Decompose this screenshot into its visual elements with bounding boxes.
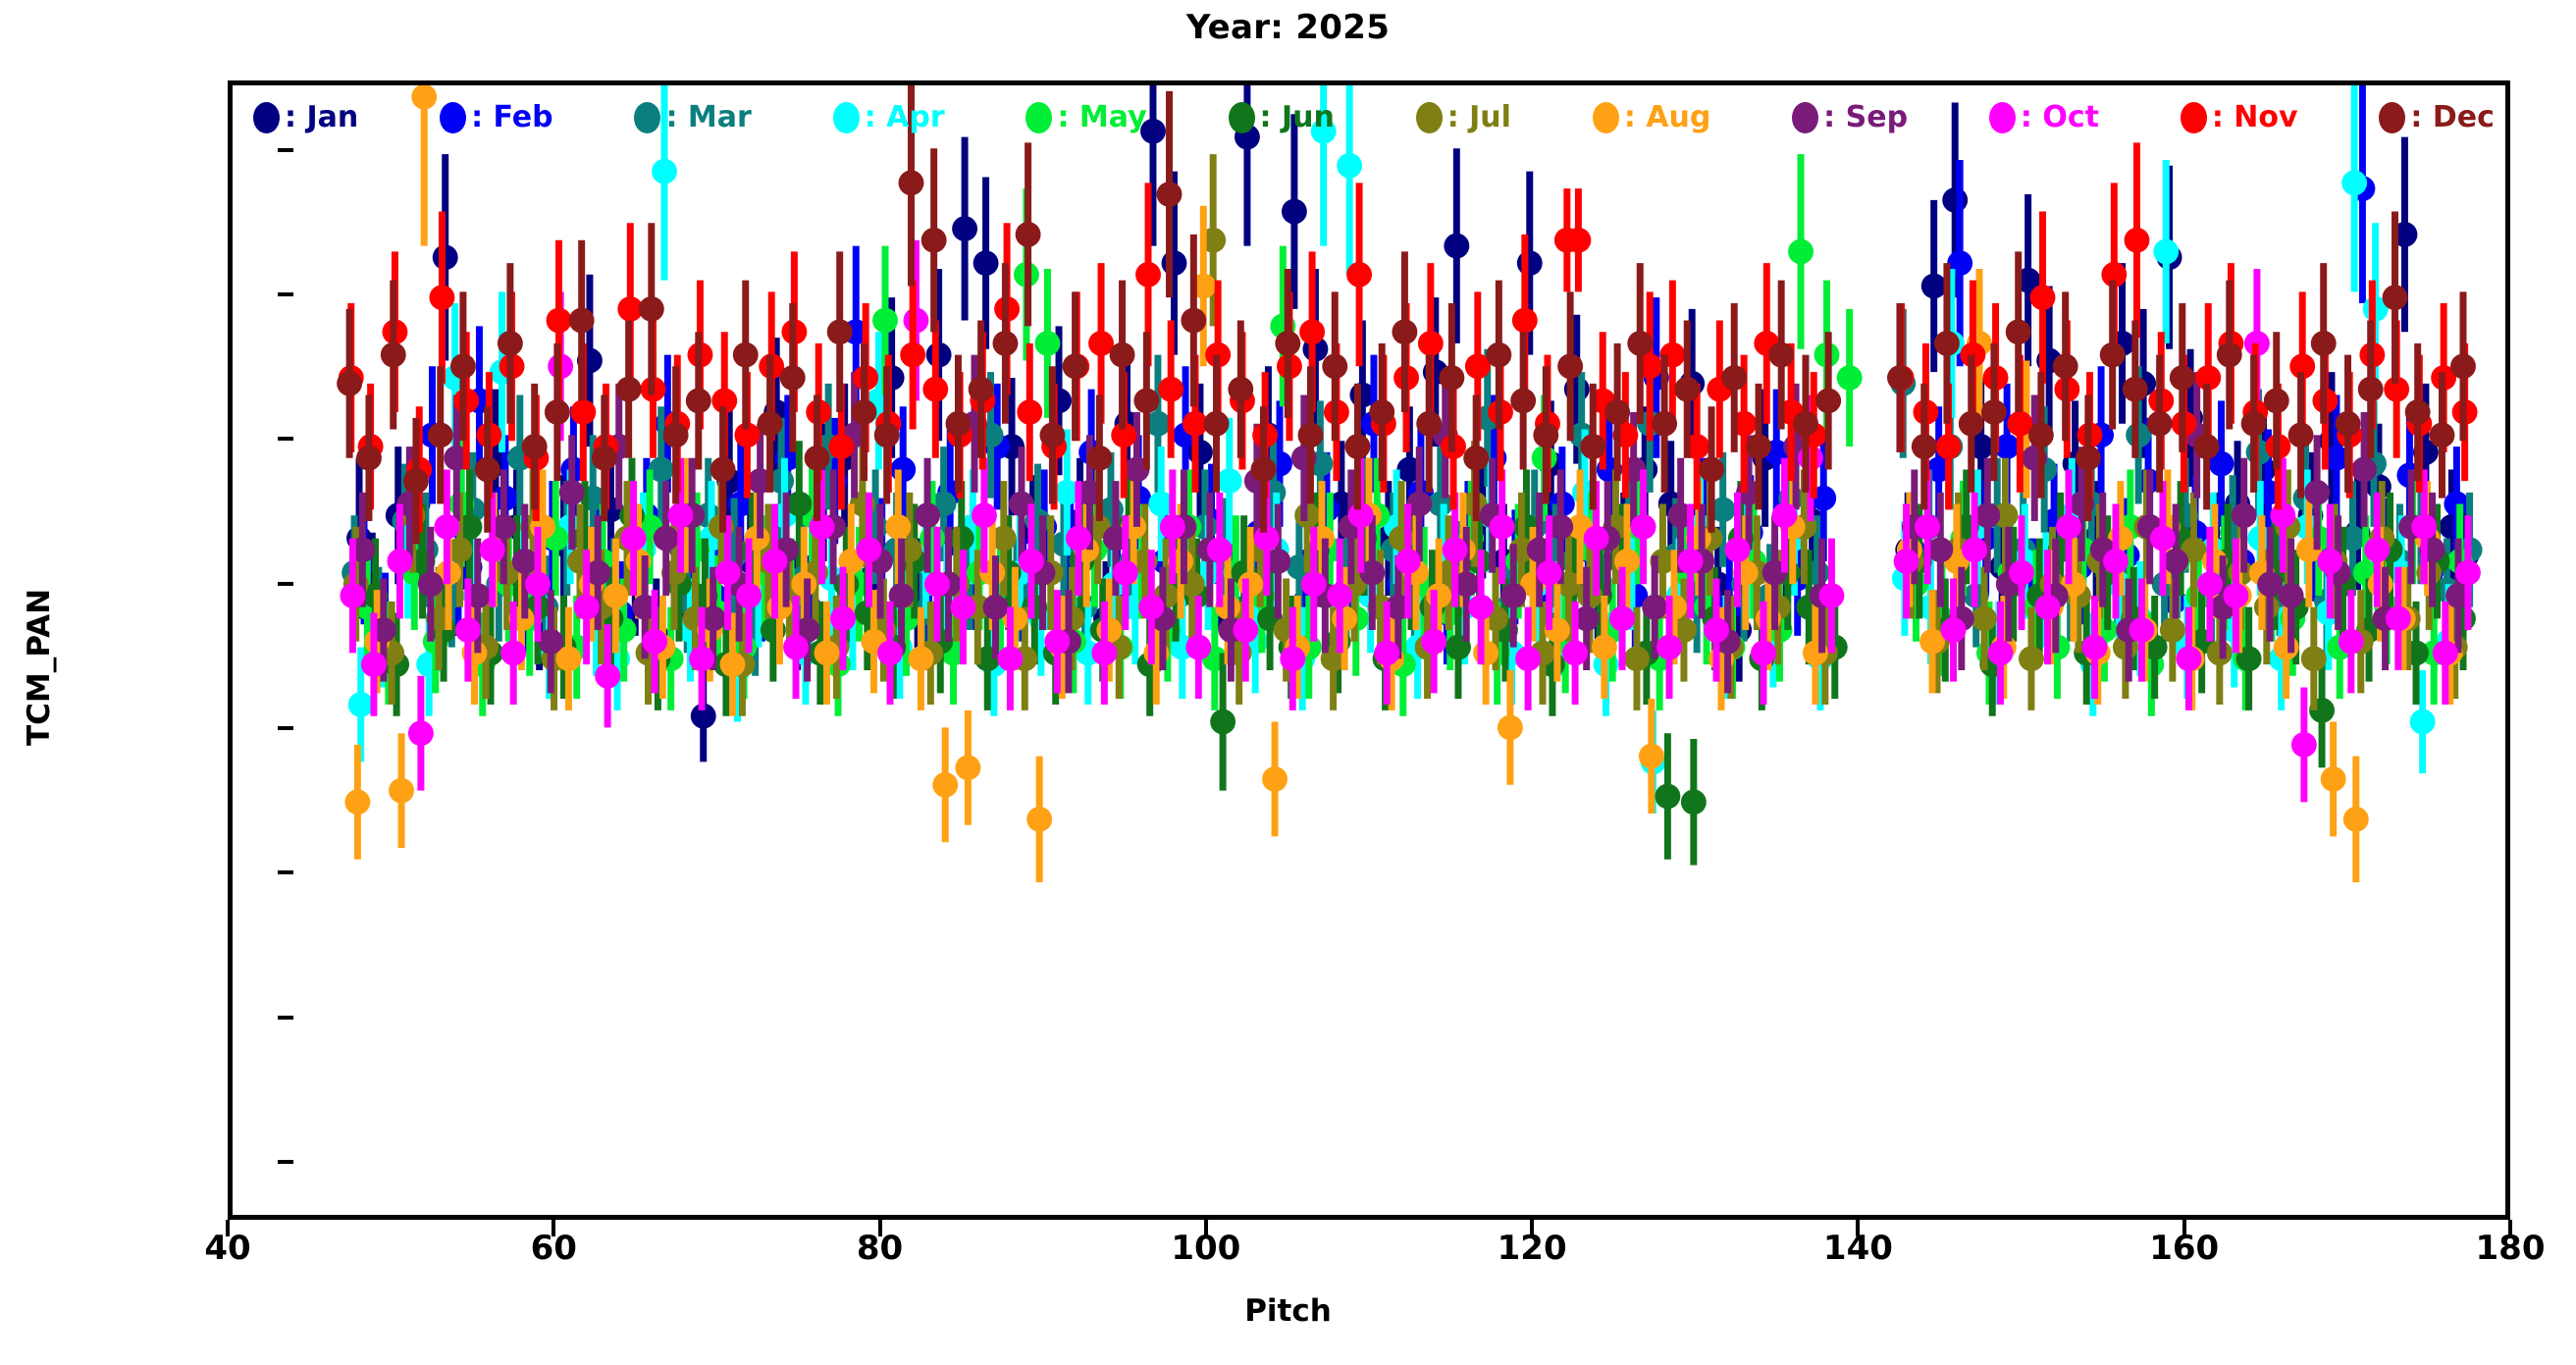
- data-point[interactable]: [1369, 399, 1394, 425]
- data-point[interactable]: [1580, 434, 1605, 459]
- data-point[interactable]: [2405, 399, 2431, 425]
- data-point[interactable]: [921, 228, 947, 253]
- plot-canvas: [233, 85, 2505, 1215]
- data-point[interactable]: [1063, 353, 1088, 379]
- data-point[interactable]: [992, 331, 1018, 356]
- data-point[interactable]: [1557, 353, 1583, 379]
- data-point[interactable]: [1017, 399, 1042, 425]
- data-point[interactable]: [1133, 388, 1159, 413]
- data-point[interactable]: [1374, 641, 1399, 666]
- data-point[interactable]: [1210, 709, 1235, 735]
- data-point[interactable]: [1562, 641, 1588, 666]
- data-point[interactable]: [852, 399, 877, 425]
- y-tick-mark: [278, 148, 293, 152]
- data-point[interactable]: [2217, 342, 2242, 368]
- y-tick-mark: [278, 437, 293, 441]
- data-point[interactable]: [1912, 434, 1937, 459]
- data-point[interactable]: [1039, 423, 1065, 448]
- data-point[interactable]: [1721, 365, 1747, 391]
- data-point[interactable]: [1344, 434, 1370, 459]
- data-point[interactable]: [361, 652, 387, 677]
- data-point[interactable]: [1793, 411, 1818, 437]
- data-point[interactable]: [969, 377, 994, 402]
- data-point[interactable]: [857, 537, 882, 562]
- data-point[interactable]: [1981, 399, 2007, 425]
- data-point[interactable]: [1160, 514, 1185, 540]
- data-point[interactable]: [1699, 457, 1724, 483]
- data-point[interactable]: [668, 502, 694, 528]
- data-point[interactable]: [2125, 228, 2150, 253]
- data-point[interactable]: [2100, 342, 2126, 368]
- data-point[interactable]: [1066, 526, 1091, 551]
- data-point[interactable]: [2386, 605, 2411, 631]
- data-point[interactable]: [1604, 399, 1630, 425]
- data-point[interactable]: [1140, 119, 1166, 144]
- data-point[interactable]: [1035, 331, 1061, 356]
- data-point[interactable]: [2343, 807, 2369, 832]
- data-point[interactable]: [973, 250, 999, 276]
- data-point[interactable]: [1181, 308, 1206, 334]
- data-point[interactable]: [900, 342, 925, 368]
- data-point[interactable]: [1609, 605, 1635, 631]
- data-point[interactable]: [828, 434, 854, 459]
- data-point[interactable]: [997, 646, 1023, 671]
- y-tick-mark: [278, 726, 293, 730]
- data-point[interactable]: [1444, 234, 1469, 259]
- data-point[interactable]: [2321, 766, 2346, 792]
- data-point[interactable]: [2264, 388, 2289, 413]
- data-point[interactable]: [356, 446, 382, 471]
- data-point[interactable]: [1113, 560, 1138, 586]
- data-point[interactable]: [908, 646, 933, 671]
- x-tick-label: 40: [204, 1229, 250, 1268]
- data-point[interactable]: [1537, 560, 1562, 586]
- data-point[interactable]: [2364, 537, 2390, 562]
- data-point[interactable]: [1971, 605, 1997, 631]
- data-point[interactable]: [1282, 199, 1307, 225]
- data-point[interactable]: [2430, 423, 2455, 448]
- data-point[interactable]: [1500, 583, 1526, 608]
- y-tick-mark: [278, 582, 293, 586]
- data-point[interactable]: [2028, 423, 2054, 448]
- data-point[interactable]: [2176, 646, 2201, 671]
- data-point[interactable]: [570, 399, 596, 425]
- data-point[interactable]: [408, 720, 434, 746]
- data-point[interactable]: [1656, 635, 1682, 660]
- data-point[interactable]: [2291, 732, 2317, 758]
- data-point[interactable]: [1468, 595, 1494, 620]
- data-point[interactable]: [715, 560, 741, 586]
- plot-area: [228, 80, 2510, 1220]
- data-point[interactable]: [2035, 595, 2061, 620]
- data-point[interactable]: [2053, 353, 2078, 379]
- data-point[interactable]: [1490, 514, 1515, 540]
- data-point[interactable]: [1614, 549, 1640, 574]
- data-point[interactable]: [2450, 353, 2476, 379]
- data-point[interactable]: [1927, 537, 1953, 562]
- x-tick-label: 80: [857, 1229, 903, 1268]
- data-point[interactable]: [2163, 549, 2188, 574]
- data-point[interactable]: [950, 595, 975, 620]
- data-point[interactable]: [1788, 239, 1814, 265]
- data-point[interactable]: [810, 514, 835, 540]
- data-point[interactable]: [922, 377, 948, 402]
- data-point[interactable]: [1642, 595, 1667, 620]
- data-point[interactable]: [1837, 365, 1863, 391]
- data-point[interactable]: [1592, 635, 1617, 660]
- data-point[interactable]: [2147, 411, 2173, 437]
- data-point[interactable]: [411, 85, 437, 110]
- data-point[interactable]: [663, 423, 689, 448]
- data-point[interactable]: [1301, 571, 1327, 597]
- data-point[interactable]: [2455, 560, 2481, 586]
- data-point[interactable]: [418, 571, 444, 597]
- data-point[interactable]: [1772, 502, 1798, 528]
- data-point[interactable]: [890, 457, 916, 483]
- data-point[interactable]: [1311, 119, 1337, 144]
- data-point[interactable]: [1337, 153, 1362, 179]
- data-point[interactable]: [559, 480, 585, 505]
- data-point[interactable]: [686, 388, 711, 413]
- data-point[interactable]: [1681, 789, 1707, 814]
- data-point[interactable]: [538, 629, 563, 655]
- data-point[interactable]: [2336, 411, 2361, 437]
- data-point[interactable]: [1751, 641, 1776, 666]
- data-point[interactable]: [621, 526, 647, 551]
- data-point[interactable]: [2274, 635, 2299, 660]
- data-point[interactable]: [1280, 646, 1305, 671]
- data-point[interactable]: [1237, 571, 1263, 597]
- data-point[interactable]: [434, 514, 459, 540]
- data-point[interactable]: [1158, 377, 1183, 402]
- x-tick-label: 120: [1498, 1229, 1567, 1268]
- data-point[interactable]: [983, 595, 1009, 620]
- data-point[interactable]: [652, 159, 677, 184]
- data-point[interactable]: [736, 583, 762, 608]
- data-point[interactable]: [949, 526, 974, 551]
- data-point[interactable]: [1959, 411, 1984, 437]
- data-point[interactable]: [616, 377, 642, 402]
- x-tick-label: 180: [2476, 1229, 2546, 1268]
- data-point[interactable]: [1322, 353, 1347, 379]
- data-point[interactable]: [547, 308, 572, 334]
- data-point[interactable]: [1974, 502, 2000, 528]
- data-point[interactable]: [1915, 514, 1940, 540]
- data-point[interactable]: [2197, 571, 2223, 597]
- data-point[interactable]: [2304, 480, 2330, 505]
- data-point[interactable]: [1026, 807, 1052, 832]
- data-point[interactable]: [1327, 583, 1352, 608]
- data-point[interactable]: [786, 492, 812, 517]
- x-tick-label: 160: [2149, 1229, 2219, 1268]
- data-point[interactable]: [1138, 595, 1164, 620]
- data-point[interactable]: [1091, 641, 1117, 666]
- data-point[interactable]: [1275, 331, 1300, 356]
- data-point[interactable]: [1016, 222, 1041, 247]
- data-point[interactable]: [569, 308, 595, 334]
- data-point[interactable]: [1426, 583, 1451, 608]
- data-point[interactable]: [915, 502, 940, 528]
- data-point[interactable]: [1162, 250, 1187, 276]
- data-point[interactable]: [872, 308, 898, 334]
- data-point[interactable]: [2006, 319, 2031, 344]
- data-point[interactable]: [387, 549, 412, 574]
- data-point[interactable]: [920, 526, 945, 551]
- data-point[interactable]: [1421, 629, 1446, 655]
- data-point[interactable]: [1988, 641, 2014, 666]
- y-tick-mark: [278, 292, 293, 296]
- data-point[interactable]: [1233, 617, 1258, 643]
- data-point[interactable]: [1819, 583, 1845, 608]
- chart-page: Year: 2025 : Jan: Feb: Mar: Apr: May: Ju…: [0, 0, 2576, 1365]
- data-point[interactable]: [1157, 182, 1183, 207]
- data-point[interactable]: [1815, 388, 1841, 413]
- data-point[interactable]: [337, 371, 362, 396]
- data-point[interactable]: [1512, 308, 1538, 334]
- data-point[interactable]: [1624, 646, 1650, 671]
- data-point[interactable]: [2339, 629, 2364, 655]
- data-point[interactable]: [2241, 411, 2267, 437]
- data-point[interactable]: [783, 635, 809, 660]
- data-point[interactable]: [1652, 411, 1677, 437]
- data-point[interactable]: [2341, 170, 2367, 195]
- data-point[interactable]: [2153, 239, 2179, 265]
- data-point[interactable]: [595, 663, 620, 689]
- data-point[interactable]: [2160, 617, 2185, 643]
- data-point[interactable]: [1942, 187, 1968, 213]
- data-point[interactable]: [1921, 274, 1947, 299]
- data-point[interactable]: [2150, 526, 2176, 551]
- data-point[interactable]: [1086, 446, 1112, 471]
- data-point[interactable]: [1565, 228, 1591, 253]
- data-point[interactable]: [2383, 285, 2408, 310]
- data-point[interactable]: [1204, 411, 1230, 437]
- data-point[interactable]: [2019, 646, 2044, 671]
- x-axis-label: Pitch: [0, 1293, 2576, 1329]
- data-point[interactable]: [2351, 457, 2377, 483]
- data-point[interactable]: [2194, 434, 2220, 459]
- data-point[interactable]: [1517, 250, 1543, 276]
- data-point[interactable]: [603, 583, 628, 608]
- data-point[interactable]: [1463, 446, 1489, 471]
- data-point[interactable]: [1768, 342, 1794, 368]
- data-point[interactable]: [1135, 262, 1161, 288]
- data-point[interactable]: [2411, 514, 2437, 540]
- data-point[interactable]: [642, 629, 667, 655]
- data-point[interactable]: [429, 285, 454, 310]
- data-point[interactable]: [733, 342, 759, 368]
- data-point[interactable]: [525, 571, 551, 597]
- data-point[interactable]: [2030, 285, 2056, 310]
- page-title: Year: 2025: [0, 8, 2576, 47]
- data-point[interactable]: [654, 526, 679, 551]
- data-point[interactable]: [1941, 617, 1967, 643]
- data-point[interactable]: [1639, 744, 1664, 769]
- data-point[interactable]: [1044, 629, 1070, 655]
- data-point[interactable]: [2223, 583, 2248, 608]
- data-point[interactable]: [830, 605, 856, 631]
- data-point[interactable]: [1934, 331, 1960, 356]
- data-point[interactable]: [689, 646, 714, 671]
- data-point[interactable]: [1725, 537, 1751, 562]
- data-point[interactable]: [340, 583, 365, 608]
- data-point[interactable]: [924, 571, 950, 597]
- data-point[interactable]: [500, 641, 526, 666]
- data-point[interactable]: [1627, 331, 1653, 356]
- data-point[interactable]: [2358, 377, 2384, 402]
- data-point[interactable]: [592, 446, 617, 471]
- data-point[interactable]: [2170, 365, 2195, 391]
- x-tick-label: 60: [531, 1229, 577, 1268]
- data-point[interactable]: [1584, 526, 1609, 551]
- data-point[interactable]: [1678, 549, 1704, 574]
- data-point[interactable]: [2288, 423, 2314, 448]
- data-point[interactable]: [2301, 646, 2327, 671]
- data-point[interactable]: [1486, 342, 1511, 368]
- data-point[interactable]: [1894, 549, 1919, 574]
- data-point[interactable]: [450, 353, 476, 379]
- data-point[interactable]: [1392, 319, 1417, 344]
- data-point[interactable]: [428, 423, 453, 448]
- data-point[interactable]: [2311, 331, 2337, 356]
- data-point[interactable]: [455, 617, 481, 643]
- data-point[interactable]: [1704, 617, 1729, 643]
- data-point[interactable]: [1298, 423, 1324, 448]
- data-point[interactable]: [2433, 641, 2458, 666]
- data-point[interactable]: [1207, 537, 1233, 562]
- data-point[interactable]: [1962, 537, 1987, 562]
- data-point[interactable]: [1443, 537, 1468, 562]
- data-point[interactable]: [1510, 388, 1536, 413]
- data-point[interactable]: [874, 423, 900, 448]
- data-point[interactable]: [639, 296, 664, 322]
- data-point[interactable]: [381, 342, 406, 368]
- data-point[interactable]: [1185, 635, 1211, 660]
- data-point[interactable]: [2270, 502, 2295, 528]
- data-point[interactable]: [2103, 549, 2129, 574]
- data-point[interactable]: [1631, 514, 1656, 540]
- data-point[interactable]: [1674, 377, 1700, 402]
- data-point[interactable]: [545, 399, 570, 425]
- data-point[interactable]: [1887, 365, 1913, 391]
- data-point[interactable]: [1217, 468, 1242, 494]
- data-point[interactable]: [403, 468, 429, 494]
- data-point[interactable]: [1332, 605, 1357, 631]
- data-point[interactable]: [899, 170, 924, 195]
- data-point[interactable]: [805, 446, 830, 471]
- data-point[interactable]: [1110, 342, 1135, 368]
- data-series-group: [337, 85, 2482, 882]
- data-point[interactable]: [1533, 423, 1558, 448]
- data-point[interactable]: [2232, 502, 2257, 528]
- y-axis-label: TCM_PAN: [22, 569, 57, 765]
- data-point[interactable]: [1228, 377, 1253, 402]
- data-point[interactable]: [475, 457, 500, 483]
- data-point[interactable]: [1251, 457, 1277, 483]
- data-point[interactable]: [972, 502, 997, 528]
- data-point[interactable]: [1498, 714, 1523, 740]
- data-point[interactable]: [2056, 514, 2081, 540]
- data-point[interactable]: [885, 514, 911, 540]
- data-point[interactable]: [1439, 365, 1464, 391]
- y-tick-mark: [278, 870, 293, 874]
- data-point[interactable]: [348, 692, 374, 717]
- data-point[interactable]: [827, 319, 853, 344]
- data-point[interactable]: [710, 457, 736, 483]
- data-point[interactable]: [1395, 549, 1421, 574]
- data-point[interactable]: [1473, 641, 1498, 666]
- data-point[interactable]: [758, 411, 783, 437]
- data-point[interactable]: [522, 434, 548, 459]
- data-point[interactable]: [1096, 617, 1122, 643]
- data-point[interactable]: [1515, 646, 1541, 671]
- data-point[interactable]: [946, 411, 972, 437]
- data-point[interactable]: [2076, 446, 2101, 471]
- data-point[interactable]: [498, 331, 523, 356]
- data-point[interactable]: [1346, 262, 1372, 288]
- data-point[interactable]: [2129, 617, 2154, 643]
- data-point[interactable]: [1262, 766, 1288, 792]
- data-point[interactable]: [1019, 549, 1044, 574]
- x-tick-label: 100: [1171, 1229, 1240, 1268]
- y-tick-mark: [278, 1016, 293, 1020]
- data-point[interactable]: [720, 652, 746, 677]
- data-point[interactable]: [1299, 319, 1325, 344]
- data-point[interactable]: [2279, 583, 2304, 608]
- data-point[interactable]: [2082, 635, 2108, 660]
- data-point[interactable]: [389, 778, 414, 804]
- data-point[interactable]: [952, 216, 977, 241]
- data-point[interactable]: [512, 549, 538, 574]
- data-point[interactable]: [780, 365, 806, 391]
- y-tick-mark: [278, 1160, 293, 1164]
- data-point[interactable]: [1418, 331, 1444, 356]
- data-point[interactable]: [1746, 434, 1771, 459]
- data-point[interactable]: [574, 595, 600, 620]
- data-point[interactable]: [815, 641, 840, 666]
- data-point[interactable]: [1655, 784, 1680, 810]
- data-point[interactable]: [762, 549, 788, 574]
- data-point[interactable]: [955, 755, 980, 780]
- data-point[interactable]: [2317, 549, 2342, 574]
- data-point[interactable]: [1936, 434, 1962, 459]
- data-point[interactable]: [480, 537, 505, 562]
- data-point[interactable]: [1416, 411, 1442, 437]
- data-point[interactable]: [2009, 560, 2034, 586]
- data-point[interactable]: [344, 789, 370, 814]
- data-point[interactable]: [932, 772, 958, 798]
- x-tick-label: 140: [1823, 1229, 1893, 1268]
- data-point[interactable]: [2123, 377, 2148, 402]
- data-point[interactable]: [877, 641, 903, 666]
- data-point[interactable]: [2410, 709, 2436, 735]
- data-point[interactable]: [1235, 125, 1260, 150]
